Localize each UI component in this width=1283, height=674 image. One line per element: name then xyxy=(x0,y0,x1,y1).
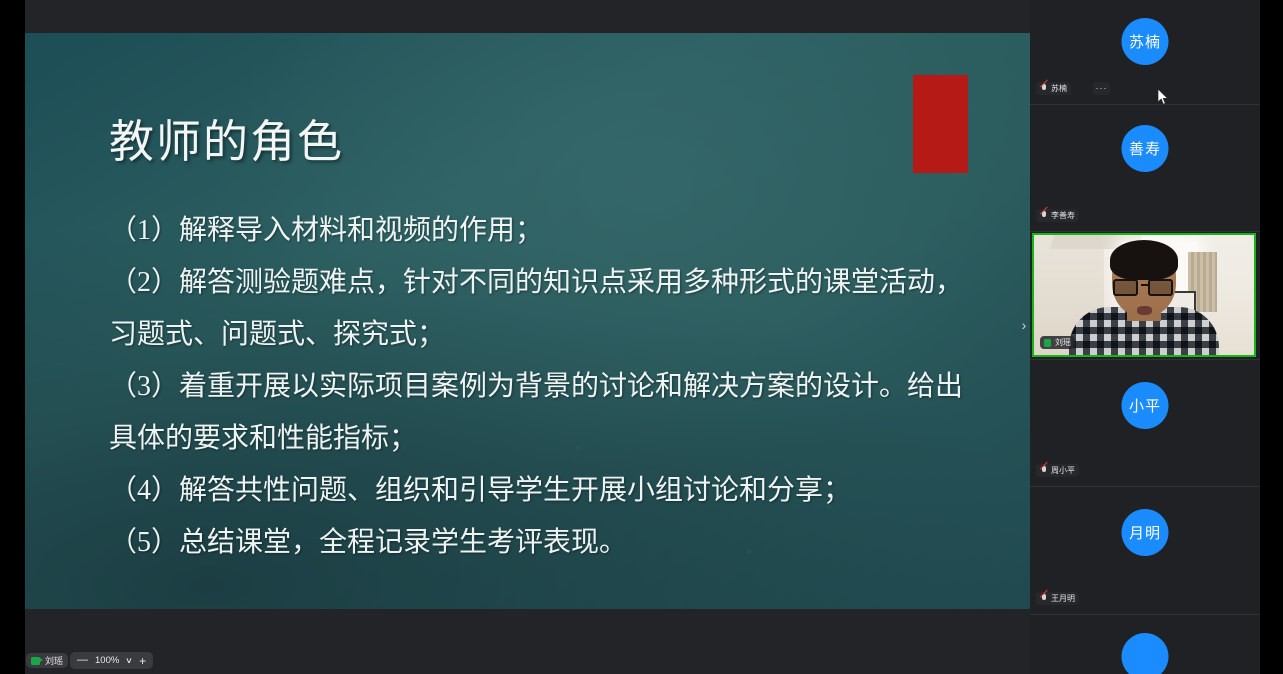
participant-name-label: 王月明 xyxy=(1051,593,1075,604)
share-bottom-bar xyxy=(50,609,1055,674)
video-person-mouth xyxy=(1137,306,1152,315)
slide-line: （3）着重开展以实际项目案例为背景的讨论和解决方案的设计。给出 xyxy=(109,361,1019,413)
participant-tile[interactable]: 小平 周小平 xyxy=(1030,360,1260,487)
avatar xyxy=(1122,633,1169,674)
mic-muted-icon xyxy=(1040,466,1047,475)
more-options-button[interactable]: ··· xyxy=(1093,82,1110,95)
avatar: 小平 xyxy=(1122,382,1169,429)
mic-muted-icon xyxy=(1040,211,1047,220)
mic-muted-icon xyxy=(1040,84,1047,93)
slide-line: （5）总结课堂，全程记录学生考评表现。 xyxy=(109,517,1019,569)
video-person-glasses-left xyxy=(1113,279,1138,296)
active-speaker-video-tile[interactable]: 刘瑶 xyxy=(1032,233,1256,357)
video-person-glasses-right xyxy=(1148,279,1173,296)
participant-name-label: 李善寿 xyxy=(1051,210,1075,221)
participant-name-badge: 李善寿 xyxy=(1036,209,1079,222)
zoom-out-button[interactable]: — xyxy=(77,655,88,666)
app-root: 教师的角色 （1）解释导入材料和视频的作用； （2）解答测验题难点，针对不同的知… xyxy=(0,0,1283,674)
slide-line: 具体的要求和性能指标； xyxy=(109,413,1019,465)
mic-on-icon xyxy=(1044,339,1051,347)
screen-share-region: 教师的角色 （1）解释导入材料和视频的作用； （2）解答测验题难点，针对不同的知… xyxy=(25,0,1030,674)
right-black-gutter xyxy=(1260,0,1283,674)
slide-line: （2）解答测验题难点，针对不同的知识点采用多种形式的课堂活动， xyxy=(109,257,1019,309)
slide-line: 习题式、问题式、探究式； xyxy=(109,309,1019,361)
slide-title: 教师的角色 xyxy=(109,105,344,170)
slide-accent-block xyxy=(913,75,968,173)
video-person-hair xyxy=(1110,240,1178,280)
left-black-gutter xyxy=(0,0,25,674)
camera-on-icon xyxy=(31,657,40,665)
participant-name-label: 苏楠 xyxy=(1051,83,1067,94)
chevron-down-icon[interactable]: ∨ xyxy=(125,656,133,665)
active-speaker-name-label: 刘瑶 xyxy=(1055,337,1071,348)
self-name-label: 刘瑶 xyxy=(45,654,63,667)
participant-name-badge: 王月明 xyxy=(1036,592,1079,605)
participant-tile[interactable]: 月明 王月明 xyxy=(1030,487,1260,615)
participant-name-label: 周小平 xyxy=(1051,465,1075,476)
participant-name-badge: 周小平 xyxy=(1036,464,1079,477)
self-view-name-badge: 刘瑶 xyxy=(26,653,68,668)
zoom-level-label: 100% xyxy=(95,655,119,666)
mouse-cursor-icon xyxy=(1158,89,1169,105)
video-person-glasses-bridge xyxy=(1141,284,1149,286)
active-speaker-name-badge: 刘瑶 xyxy=(1040,336,1075,349)
chevron-right-icon[interactable]: › xyxy=(1018,316,1030,334)
participant-tile[interactable]: 善寿 李善寿 xyxy=(1030,105,1260,232)
zoom-in-button[interactable]: + xyxy=(139,655,146,667)
participant-name-badge: 苏楠 xyxy=(1036,82,1071,95)
participant-tile[interactable]: 苏楠 苏楠 ··· xyxy=(1030,0,1260,105)
avatar: 苏楠 xyxy=(1122,18,1169,65)
shared-slide: 教师的角色 （1）解释导入材料和视频的作用； （2）解答测验题难点，针对不同的知… xyxy=(25,33,1030,609)
slide-line: （4）解答共性问题、组织和引导学生开展小组讨论和分享； xyxy=(109,465,1019,517)
mic-muted-icon xyxy=(1040,594,1047,603)
avatar: 月明 xyxy=(1122,509,1169,556)
zoom-control[interactable]: — 100% ∨ + xyxy=(70,652,153,669)
participant-tile-partial[interactable] xyxy=(1030,615,1260,674)
slide-line: （1）解释导入材料和视频的作用； xyxy=(109,205,1019,257)
avatar: 善寿 xyxy=(1122,125,1169,172)
slide-body: （1）解释导入材料和视频的作用； （2）解答测验题难点，针对不同的知识点采用多种… xyxy=(109,205,1019,569)
